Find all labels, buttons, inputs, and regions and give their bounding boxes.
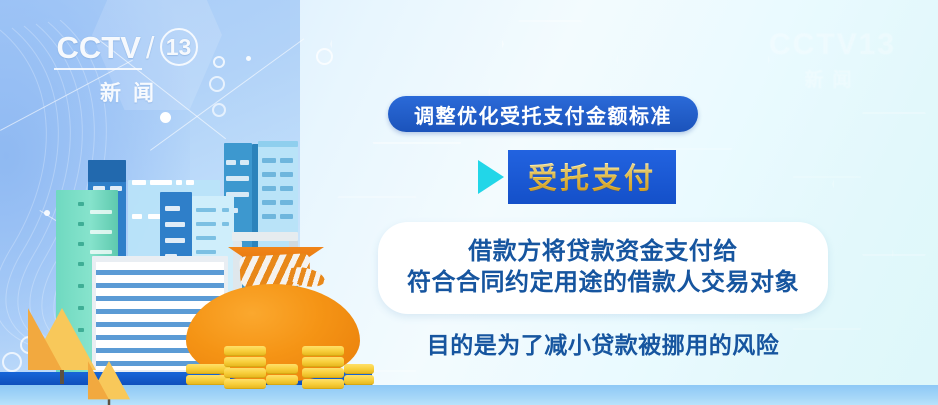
tree-trunk <box>108 399 110 405</box>
hexagon-shape <box>832 112 938 256</box>
building-roof <box>258 141 298 147</box>
gate-top-beam <box>232 232 298 241</box>
building-window <box>280 172 293 177</box>
building-window <box>222 222 229 226</box>
definition-line-2: 符合合同约定用途的借款人交易对象 <box>407 268 799 299</box>
term-tag-label: 受托支付 <box>528 163 656 195</box>
coin-stack <box>302 345 344 389</box>
building-window <box>78 202 84 206</box>
building-window <box>262 200 276 205</box>
building-window <box>226 160 236 165</box>
building-window <box>262 172 276 177</box>
tree-trunk <box>60 370 64 384</box>
coin-stack <box>224 345 266 389</box>
hexagon-shape <box>488 20 612 164</box>
watermark-right-line1: CCTV13 <box>769 30 896 60</box>
building-window <box>280 200 293 205</box>
building-window <box>196 236 216 240</box>
building-window <box>78 242 84 246</box>
building-window <box>90 230 112 234</box>
building-window <box>196 208 216 212</box>
building-window <box>150 180 172 185</box>
tree-right <box>88 361 130 405</box>
definition-card: 借款方将贷款资金支付给 符合合同约定用途的借款人交易对象 <box>378 222 828 314</box>
coin <box>224 368 266 378</box>
building-window <box>196 250 216 254</box>
coin-stack <box>266 363 298 385</box>
building-window <box>222 208 229 212</box>
building-window <box>132 214 142 219</box>
tree-left <box>28 308 96 384</box>
coin <box>344 375 374 385</box>
term-tag-box: 受托支付 <box>508 150 676 204</box>
coin <box>224 357 266 367</box>
building-window <box>280 186 293 191</box>
purpose-note: 目的是为了减小贷款被挪用的风险 <box>378 326 828 360</box>
building-window <box>226 176 249 181</box>
building-window <box>165 238 185 243</box>
building-window <box>240 160 249 165</box>
play-triangle-icon <box>478 160 504 194</box>
building-window <box>90 250 112 254</box>
building-window <box>132 180 146 185</box>
headline-banner-text: 调整优化受托支付金额标准 <box>414 100 672 129</box>
coin-stack <box>344 363 374 385</box>
building-window <box>90 210 112 214</box>
coin <box>224 379 266 389</box>
building-window <box>176 180 182 185</box>
cctv-watermark-right: CCTV13 新闻 <box>769 30 896 92</box>
coin <box>344 364 374 374</box>
building-window <box>165 206 180 211</box>
building-window <box>186 180 194 185</box>
city-illustration <box>0 0 400 405</box>
building-window <box>165 222 185 227</box>
tree-crown-shade <box>0 308 62 370</box>
coin <box>302 346 344 356</box>
term-tag-row: 受托支付 <box>478 150 676 204</box>
building-window <box>280 158 293 163</box>
definition-line-1: 借款方将贷款资金支付给 <box>468 237 738 268</box>
building-window <box>262 186 276 191</box>
coin <box>302 368 344 378</box>
building-roof <box>88 160 126 182</box>
coin <box>266 375 298 385</box>
building-window <box>196 222 216 226</box>
broadcast-graphic: CCTV13 新闻 CCTV / 13 新闻 <box>0 0 938 405</box>
building-window <box>78 222 84 226</box>
watermark-right-line2: 新闻 <box>769 65 896 92</box>
foreground-floor <box>0 385 938 405</box>
tree-crown <box>88 361 130 399</box>
coin <box>302 357 344 367</box>
building-window <box>262 214 276 219</box>
headline-banner: 调整优化受托支付金额标准 <box>388 96 698 132</box>
building-window <box>280 214 293 219</box>
building-window <box>78 262 84 266</box>
building-window <box>262 158 276 163</box>
coin <box>266 364 298 374</box>
coin <box>302 379 344 389</box>
coin <box>224 346 266 356</box>
tree-crown <box>28 308 96 370</box>
building-window <box>78 284 84 288</box>
